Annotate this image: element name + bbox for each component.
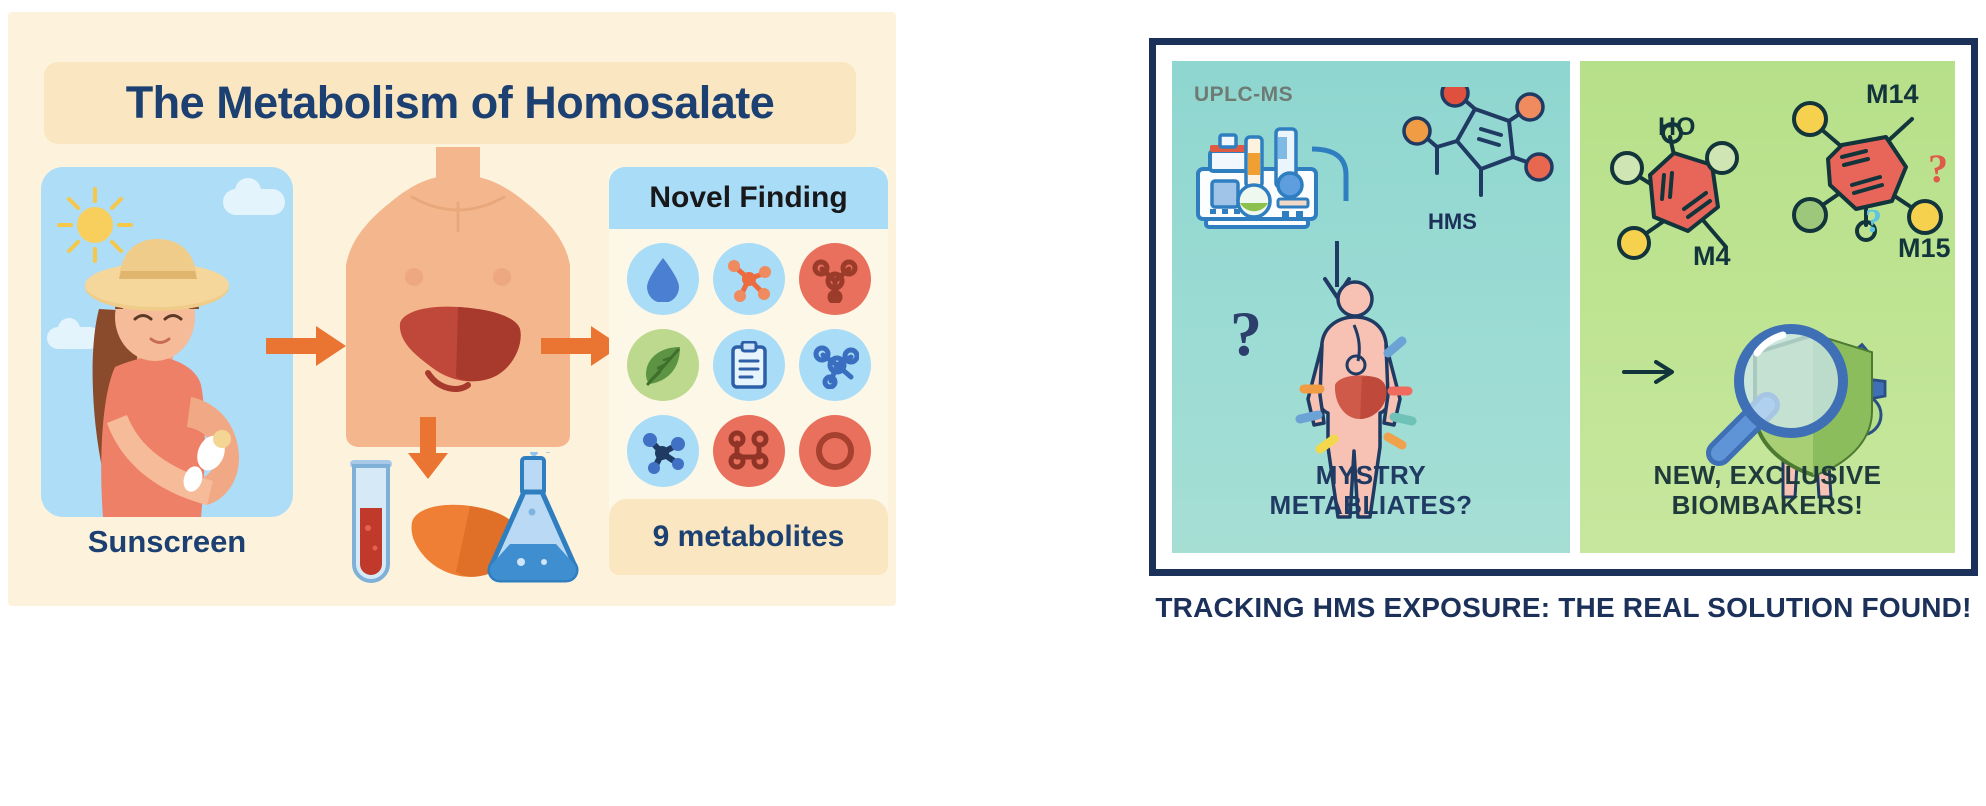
novel-finding-title: Novel Finding — [649, 181, 847, 215]
woman-applying-sunscreen-illustration — [41, 217, 293, 517]
uplc-ms-instrument-icon — [1190, 109, 1370, 239]
uplc-ms-label: UPLC-MS — [1194, 83, 1293, 107]
teal-caption-line-1: MYSTRY — [1172, 460, 1570, 491]
question-mark-icon: ? — [1230, 297, 1262, 371]
teal-panel-caption: MYSTRY METABLIATES? — [1172, 460, 1570, 521]
sunscreen-label: Sunscreen — [41, 524, 293, 560]
grid-cell — [623, 239, 703, 319]
circle-ring-icon — [812, 428, 858, 474]
arrow-right-icon — [1622, 357, 1674, 387]
m15-label: M15 — [1898, 233, 1951, 264]
page-title: The Metabolism of Homosalate — [126, 77, 775, 129]
grid-cell — [795, 325, 875, 405]
question-mark-icon: ? — [1865, 203, 1882, 241]
molecule-cluster-icon — [639, 427, 687, 475]
infographic-canvas: The Metabolism of Homosalate — [0, 0, 1986, 806]
grid-cell — [709, 411, 789, 491]
sunscreen-card — [41, 167, 293, 517]
molecule-blue-icon — [811, 341, 859, 389]
clipboard-icon — [729, 341, 769, 389]
teal-caption-line-2: METABLIATES? — [1172, 490, 1570, 521]
cloud-icon — [223, 189, 285, 215]
hms-molecule-icon — [1397, 87, 1557, 217]
grid-cell — [795, 411, 875, 491]
novel-finding-card: Novel Finding — [609, 167, 888, 575]
question-mark-icon: ? — [1928, 145, 1948, 192]
molecule-orange-icon — [811, 255, 859, 303]
ho-label: HO — [1658, 113, 1696, 142]
test-tube-icon — [350, 460, 392, 581]
green-caption-line-2: BIOMBAKERS! — [1580, 490, 1955, 521]
left-infographic-panel: The Metabolism of Homosalate — [8, 12, 896, 606]
grid-cell — [795, 239, 875, 319]
panel-divider — [1570, 61, 1580, 553]
grid-cell — [709, 325, 789, 405]
m4-label: M4 — [1693, 241, 1731, 272]
grid-cell — [623, 325, 703, 405]
green-panel-caption: NEW, EXCLUSIVE BIOMBAKERS! — [1580, 460, 1955, 521]
human-torso-with-liver-illustration — [308, 147, 608, 457]
metabolite-icon-grid — [623, 239, 875, 491]
metabolites-count-label: 9 metabolites — [653, 520, 845, 554]
teal-panel: UPLC-MS — [1172, 61, 1570, 553]
bottom-caption: TRACKING HMS EXPOSURE: THE REAL SOLUTION… — [1149, 592, 1978, 624]
green-panel: HO M4 — [1580, 61, 1955, 553]
m14-label: M14 — [1866, 79, 1919, 110]
arrow-right-icon — [266, 324, 346, 368]
leaf-icon — [640, 342, 686, 388]
grid-cell — [709, 239, 789, 319]
molecule-icon — [725, 255, 773, 303]
labware-group-icon — [338, 452, 583, 592]
water-drop-icon — [643, 256, 683, 302]
right-infographic-panel: UPLC-MS — [1149, 38, 1978, 576]
molecule-chain-icon — [725, 429, 773, 473]
metabolites-count-band: 9 metabolites — [609, 499, 888, 575]
hms-label: HMS — [1428, 209, 1477, 235]
grid-cell — [623, 411, 703, 491]
green-caption-line-1: NEW, EXCLUSIVE — [1580, 460, 1955, 491]
novel-finding-header: Novel Finding — [609, 167, 888, 229]
title-band: The Metabolism of Homosalate — [44, 62, 856, 144]
